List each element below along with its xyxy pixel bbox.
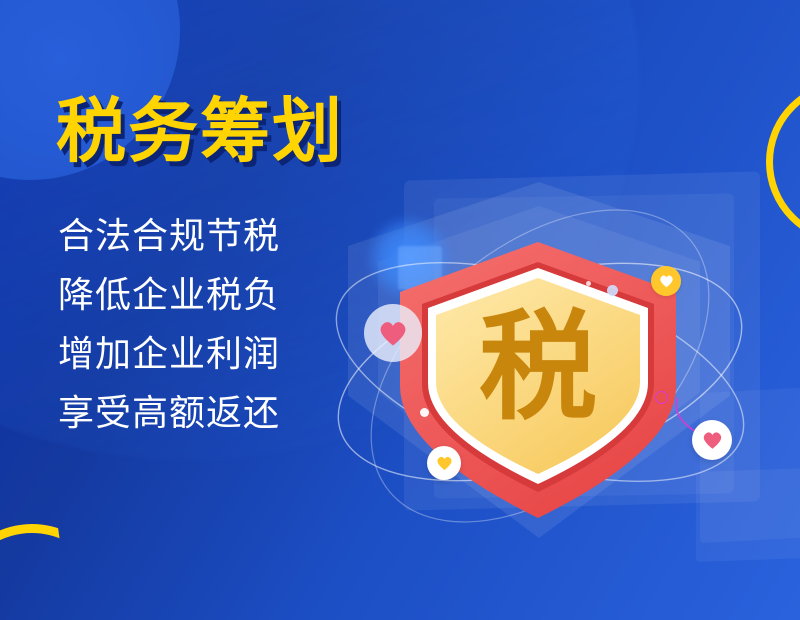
decor-ring-magenta bbox=[655, 391, 668, 404]
shield-emblem-character: 税 bbox=[479, 298, 597, 436]
heart-badge-right bbox=[692, 420, 732, 460]
heart-icon bbox=[378, 319, 408, 347]
subtitle-line-2: 降低企业税负 bbox=[58, 277, 280, 313]
subtitle-list: 合法合规节税 降低企业税负 增加企业利润 享受高额返还 bbox=[58, 218, 280, 454]
subtitle-line-1: 合法合规节税 bbox=[58, 218, 280, 254]
page-title: 税务筹划 bbox=[56, 96, 344, 166]
heart-badge-left bbox=[364, 304, 422, 362]
shield-tax-icon: 税 bbox=[388, 236, 688, 526]
heart-icon bbox=[702, 430, 723, 450]
subtitle-line-3: 增加企业利润 bbox=[58, 336, 280, 372]
heart-badge-top bbox=[651, 266, 681, 296]
subtitle-line-4: 享受高额返还 bbox=[58, 395, 280, 431]
heart-icon bbox=[436, 455, 453, 471]
heart-badge-bottom bbox=[427, 446, 461, 480]
decor-dot-a bbox=[420, 408, 429, 417]
decor-dot-b bbox=[607, 285, 618, 296]
tax-planning-banner: 税 税务筹划 合法合规节税 降低企业税负 增加企业利润 享受高额返还 bbox=[0, 0, 800, 620]
decor-dot-c bbox=[586, 281, 591, 286]
heart-icon bbox=[659, 274, 674, 288]
